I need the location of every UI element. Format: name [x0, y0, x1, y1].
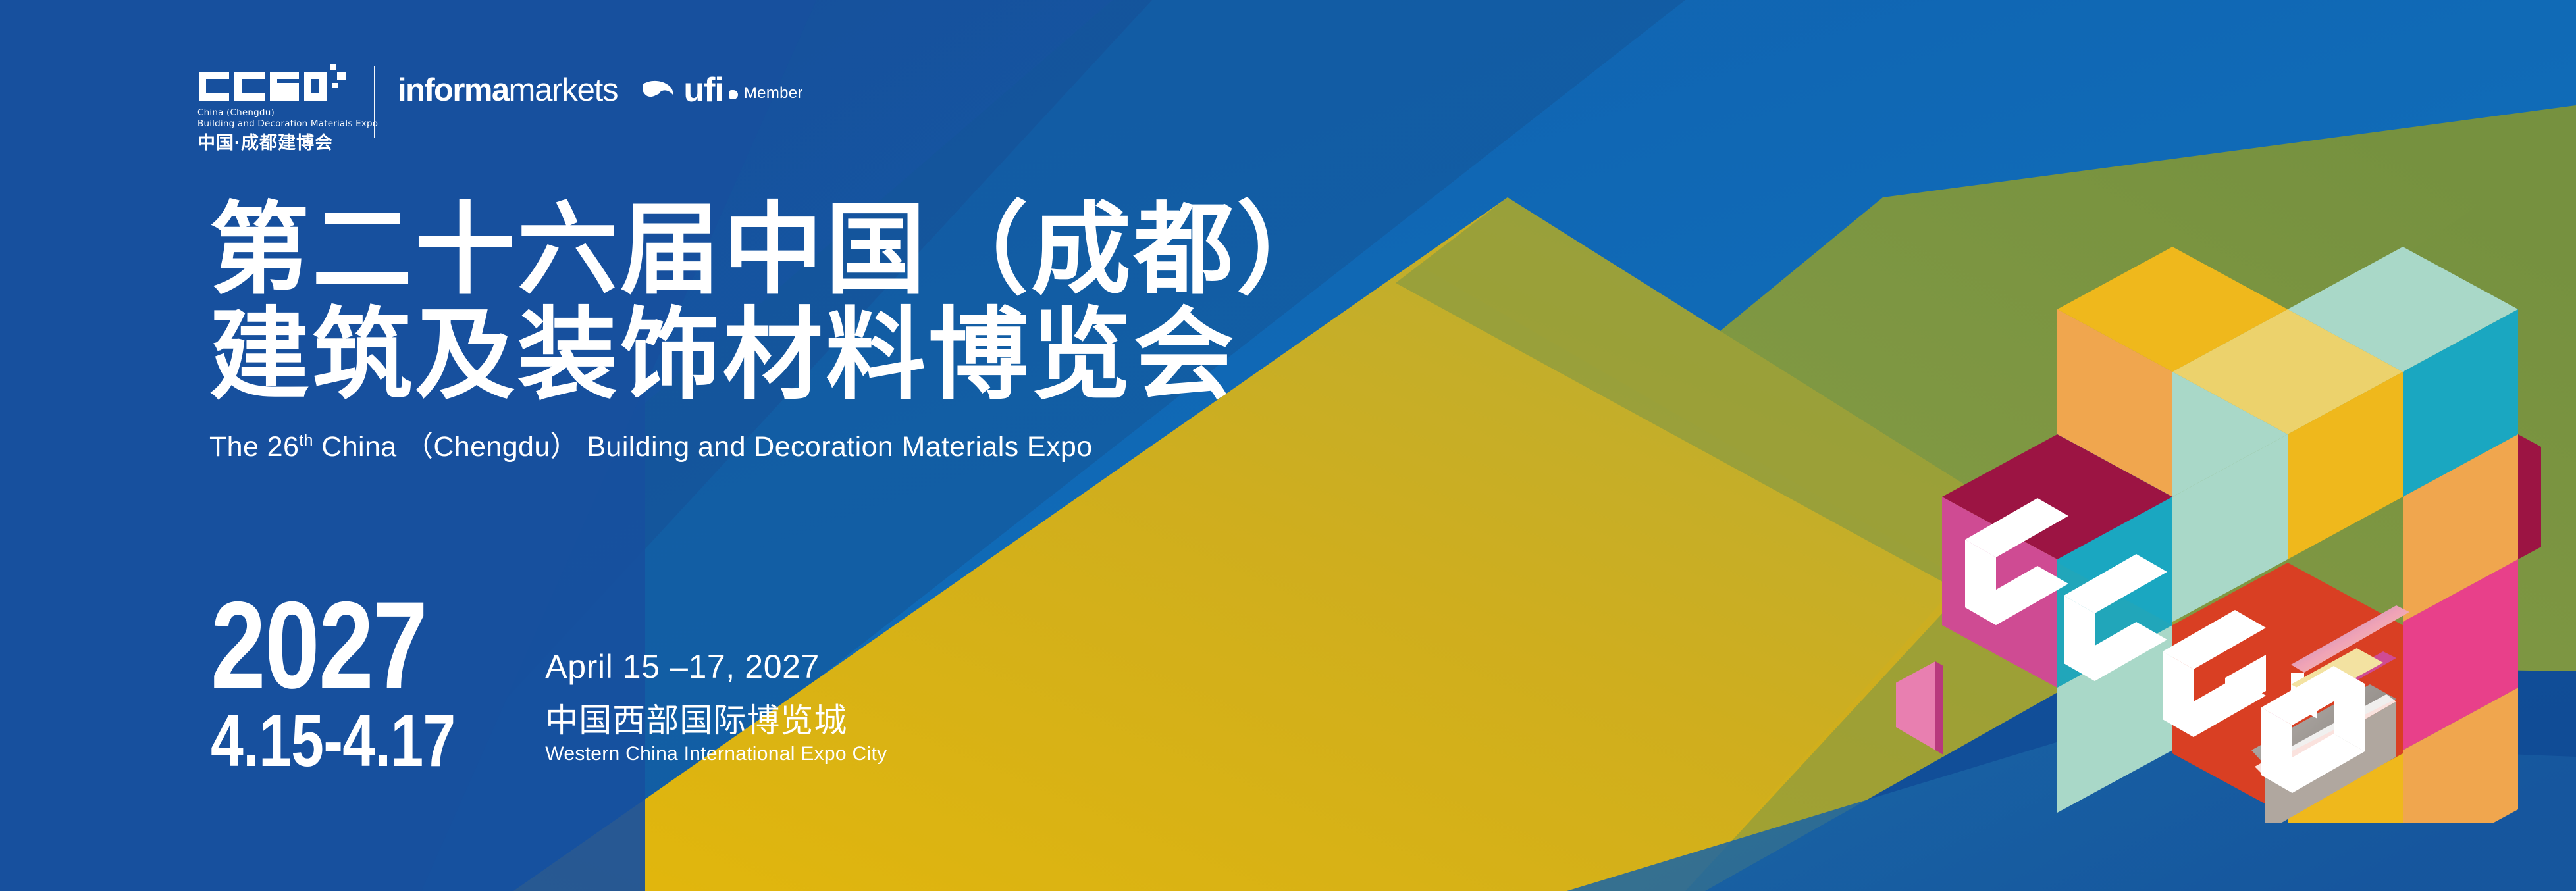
informa-word: informa — [398, 72, 508, 108]
venue-info: April 15 –17, 2027 中国西部国际博览城 Western Chi… — [545, 648, 887, 766]
pink-triangle — [1896, 661, 1935, 750]
en-prefix: The 26 — [209, 431, 299, 463]
expo-banner: China (Chengdu) Building and Decoration … — [0, 0, 2576, 891]
logo-divider — [374, 66, 375, 138]
ufi-dot-icon — [729, 90, 738, 99]
headline-cn-line1: 第二十六届中国（成都） — [209, 197, 1592, 303]
ccbd-wordmark-icon — [197, 63, 348, 103]
headline-block: 第二十六届中国（成都） 建筑及装饰材料博览会 The 26th China （C… — [209, 197, 1592, 465]
ufi-member-label: Member — [744, 84, 803, 103]
ccbd-chinese-name: 中国·成都建博会 — [197, 132, 348, 153]
ccbd-logo[interactable]: China (Chengdu) Building and Decoration … — [197, 63, 348, 153]
accent-triangles — [1896, 661, 2001, 823]
ccbd-sub-line1: China (Chengdu) — [197, 107, 348, 118]
ufi-word: ufi — [683, 77, 723, 103]
venue-name-cn: 中国西部国际博览城 — [545, 700, 887, 741]
en-ordinal: th — [299, 432, 313, 450]
ccbd-sub-line2: Building and Decoration Materials Expo — [197, 118, 348, 130]
venue-name-en: Western China International Expo City — [545, 742, 887, 766]
informa-markets-logo[interactable]: informamarkets — [398, 72, 618, 109]
markets-word: markets — [508, 72, 618, 108]
isometric-ccbd-cube-artwork — [1896, 230, 2541, 823]
big-date: 2027 4.15-4.17 — [211, 596, 516, 775]
ufi-swoosh-icon — [643, 79, 681, 101]
ufi-member-logo[interactable]: ufi Member — [643, 77, 802, 103]
headline-en-subtitle: The 26th China （Chengdu） Building and De… — [209, 424, 1592, 465]
full-date-en: April 15 –17, 2027 — [545, 648, 887, 686]
headline-cn-line2: 建筑及装饰材料博览会 — [209, 303, 1592, 408]
year-label: 2027 — [211, 596, 455, 694]
en-rest: China （Chengdu） Building and Decoration … — [313, 431, 1093, 463]
logo-bar: China (Chengdu) Building and Decoration … — [197, 63, 803, 153]
date-venue-block: 2027 4.15-4.17 April 15 –17, 2027 中国西部国际… — [211, 596, 887, 775]
date-range-label: 4.15-4.17 — [211, 706, 455, 775]
